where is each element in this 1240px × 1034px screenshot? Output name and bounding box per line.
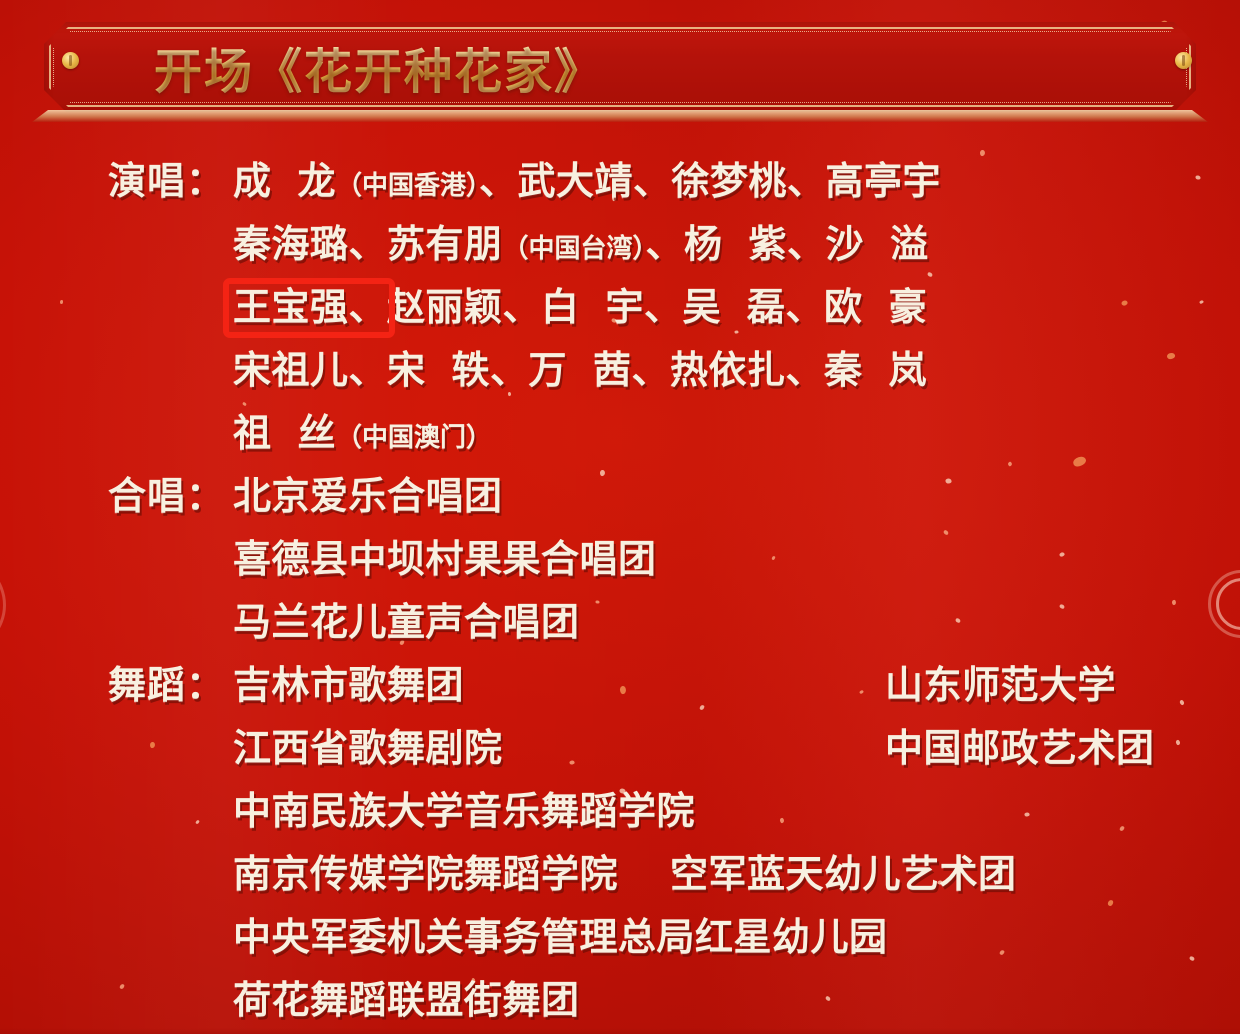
credit-row: 合唱：北京爱乐合唱团 <box>0 465 1240 528</box>
gold-stud-icon-left <box>62 52 79 69</box>
name-text: 南京传媒学院舞蹈学院 <box>233 852 618 896</box>
region-note: （中国台湾） <box>503 234 646 264</box>
name-text: 马兰花儿童声合唱团 <box>233 600 580 644</box>
name-text: 中央军委机关事务管理总局红星幼儿园 <box>233 915 888 959</box>
credit-names: 成龙（中国香港）、武大靖、徐梦桃、高亭宇 <box>233 150 941 218</box>
credit-row: 演唱：王宝强、赵丽颖、白宇、吴磊、欧豪 <box>0 276 1240 339</box>
name-text: 轶、万 <box>452 348 568 392</box>
credit-names: 祖丝（中国澳门） <box>233 402 492 470</box>
credit-row: 舞蹈：吉林市歌舞团山东师范大学 <box>0 654 1240 717</box>
credit-row: 演唱：宋祖儿、宋轶、万茜、热依扎、秦岚 <box>0 339 1240 402</box>
credit-row: 舞蹈：南京传媒学院舞蹈学院空军蓝天幼儿艺术团 <box>0 843 1240 906</box>
page-title: 开场《花开种花家》 <box>154 32 604 102</box>
credit-names: 喜德县中坝村果果合唱团 <box>233 528 657 591</box>
credit-row: 舞蹈：江西省歌舞剧院中国邮政艺术团 <box>0 717 1240 780</box>
name-text: 、武大靖、徐梦桃、高亭宇 <box>479 159 941 203</box>
credit-names: 中央军委机关事务管理总局红星幼儿园 <box>233 906 888 969</box>
name-text: 岚 <box>889 348 928 392</box>
name-text: 荷花舞蹈联盟街舞团 <box>233 978 580 1022</box>
credit-row: 演唱：秦海璐、苏有朋（中国台湾）、杨紫、沙溢 <box>0 213 1240 276</box>
credit-names: 宋祖儿、宋轶、万茜、热依扎、秦岚 <box>233 339 927 402</box>
name-text: 宋祖儿、宋 <box>233 348 426 392</box>
highlighted-name[interactable]: 王宝强、 <box>233 276 387 339</box>
name-text: 溢 <box>890 222 929 266</box>
name-text: 吉林市歌舞团 <box>233 663 464 707</box>
credit-names: 江西省歌舞剧院中国邮政艺术团 <box>233 717 503 780</box>
credit-row: 演唱：成龙（中国香港）、武大靖、徐梦桃、高亭宇 <box>0 150 1240 213</box>
credit-names-column-2: 山东师范大学 <box>885 654 1116 717</box>
credit-row: 演唱：祖丝（中国澳门） <box>0 402 1240 465</box>
name-text: 江西省歌舞剧院 <box>233 726 503 770</box>
name-text: 宇、吴 <box>606 285 722 329</box>
credit-names: 马兰花儿童声合唱团 <box>233 591 580 654</box>
region-note: （中国澳门） <box>336 423 492 453</box>
credits-list: 演唱：成龙（中国香港）、武大靖、徐梦桃、高亭宇演唱：秦海璐、苏有朋（中国台湾）、… <box>0 150 1240 1032</box>
name-text: 中南民族大学音乐舞蹈学院 <box>233 789 695 833</box>
name-text: 豪 <box>889 285 928 329</box>
name-text: 秦海璐、苏有朋 <box>233 222 503 266</box>
name-text: 空军蓝天幼儿艺术团 <box>670 852 1017 896</box>
name-text: 丝 <box>298 411 337 455</box>
name-text: 北京爱乐合唱团 <box>233 474 503 518</box>
credit-names: 荷花舞蹈联盟街舞团 <box>233 969 580 1032</box>
credit-names: 秦海璐、苏有朋（中国台湾）、杨紫、沙溢 <box>233 213 929 281</box>
name-text: 茜、热依扎、秦 <box>593 348 863 392</box>
name-text: 磊、欧 <box>747 285 863 329</box>
name-text: 喜德县中坝村果果合唱团 <box>233 537 657 581</box>
credit-names-column-2: 中国邮政艺术团 <box>885 717 1155 780</box>
name-text: 祖 <box>233 411 272 455</box>
program-title-plaque: 开场《花开种花家》 <box>44 22 1196 112</box>
name-text: 、杨 <box>646 222 723 266</box>
name-text: 紫、沙 <box>749 222 865 266</box>
program-credits-screen: 开场《花开种花家》 演唱：成龙（中国香港）、武大靖、徐梦桃、高亭宇演唱：秦海璐、… <box>0 0 1240 1034</box>
credit-names: 南京传媒学院舞蹈学院空军蓝天幼儿艺术团 <box>233 843 1017 906</box>
credit-names: 中南民族大学音乐舞蹈学院 <box>233 780 695 843</box>
credit-row: 舞蹈：荷花舞蹈联盟街舞团 <box>0 969 1240 1032</box>
credit-names: 北京爱乐合唱团 <box>233 465 503 528</box>
region-note: （中国香港） <box>336 171 479 201</box>
credit-row: 舞蹈：中央军委机关事务管理总局红星幼儿园 <box>0 906 1240 969</box>
gold-stud-icon-right <box>1175 52 1192 69</box>
name-text: 成 <box>233 159 272 203</box>
credit-names: 王宝强、赵丽颖、白宇、吴磊、欧豪 <box>233 276 927 339</box>
credit-category-label: 演唱： <box>108 150 233 213</box>
credit-row: 合唱：马兰花儿童声合唱团 <box>0 591 1240 654</box>
credit-row: 合唱：喜德县中坝村果果合唱团 <box>0 528 1240 591</box>
credit-names: 吉林市歌舞团山东师范大学 <box>233 654 464 717</box>
name-text: 赵丽颖、白 <box>387 285 580 329</box>
credit-category-label: 合唱： <box>108 465 233 528</box>
plaque-ledge <box>32 110 1208 122</box>
credit-category-label: 舞蹈： <box>108 654 233 717</box>
credit-row: 舞蹈：中南民族大学音乐舞蹈学院 <box>0 780 1240 843</box>
name-text: 龙 <box>298 159 337 203</box>
